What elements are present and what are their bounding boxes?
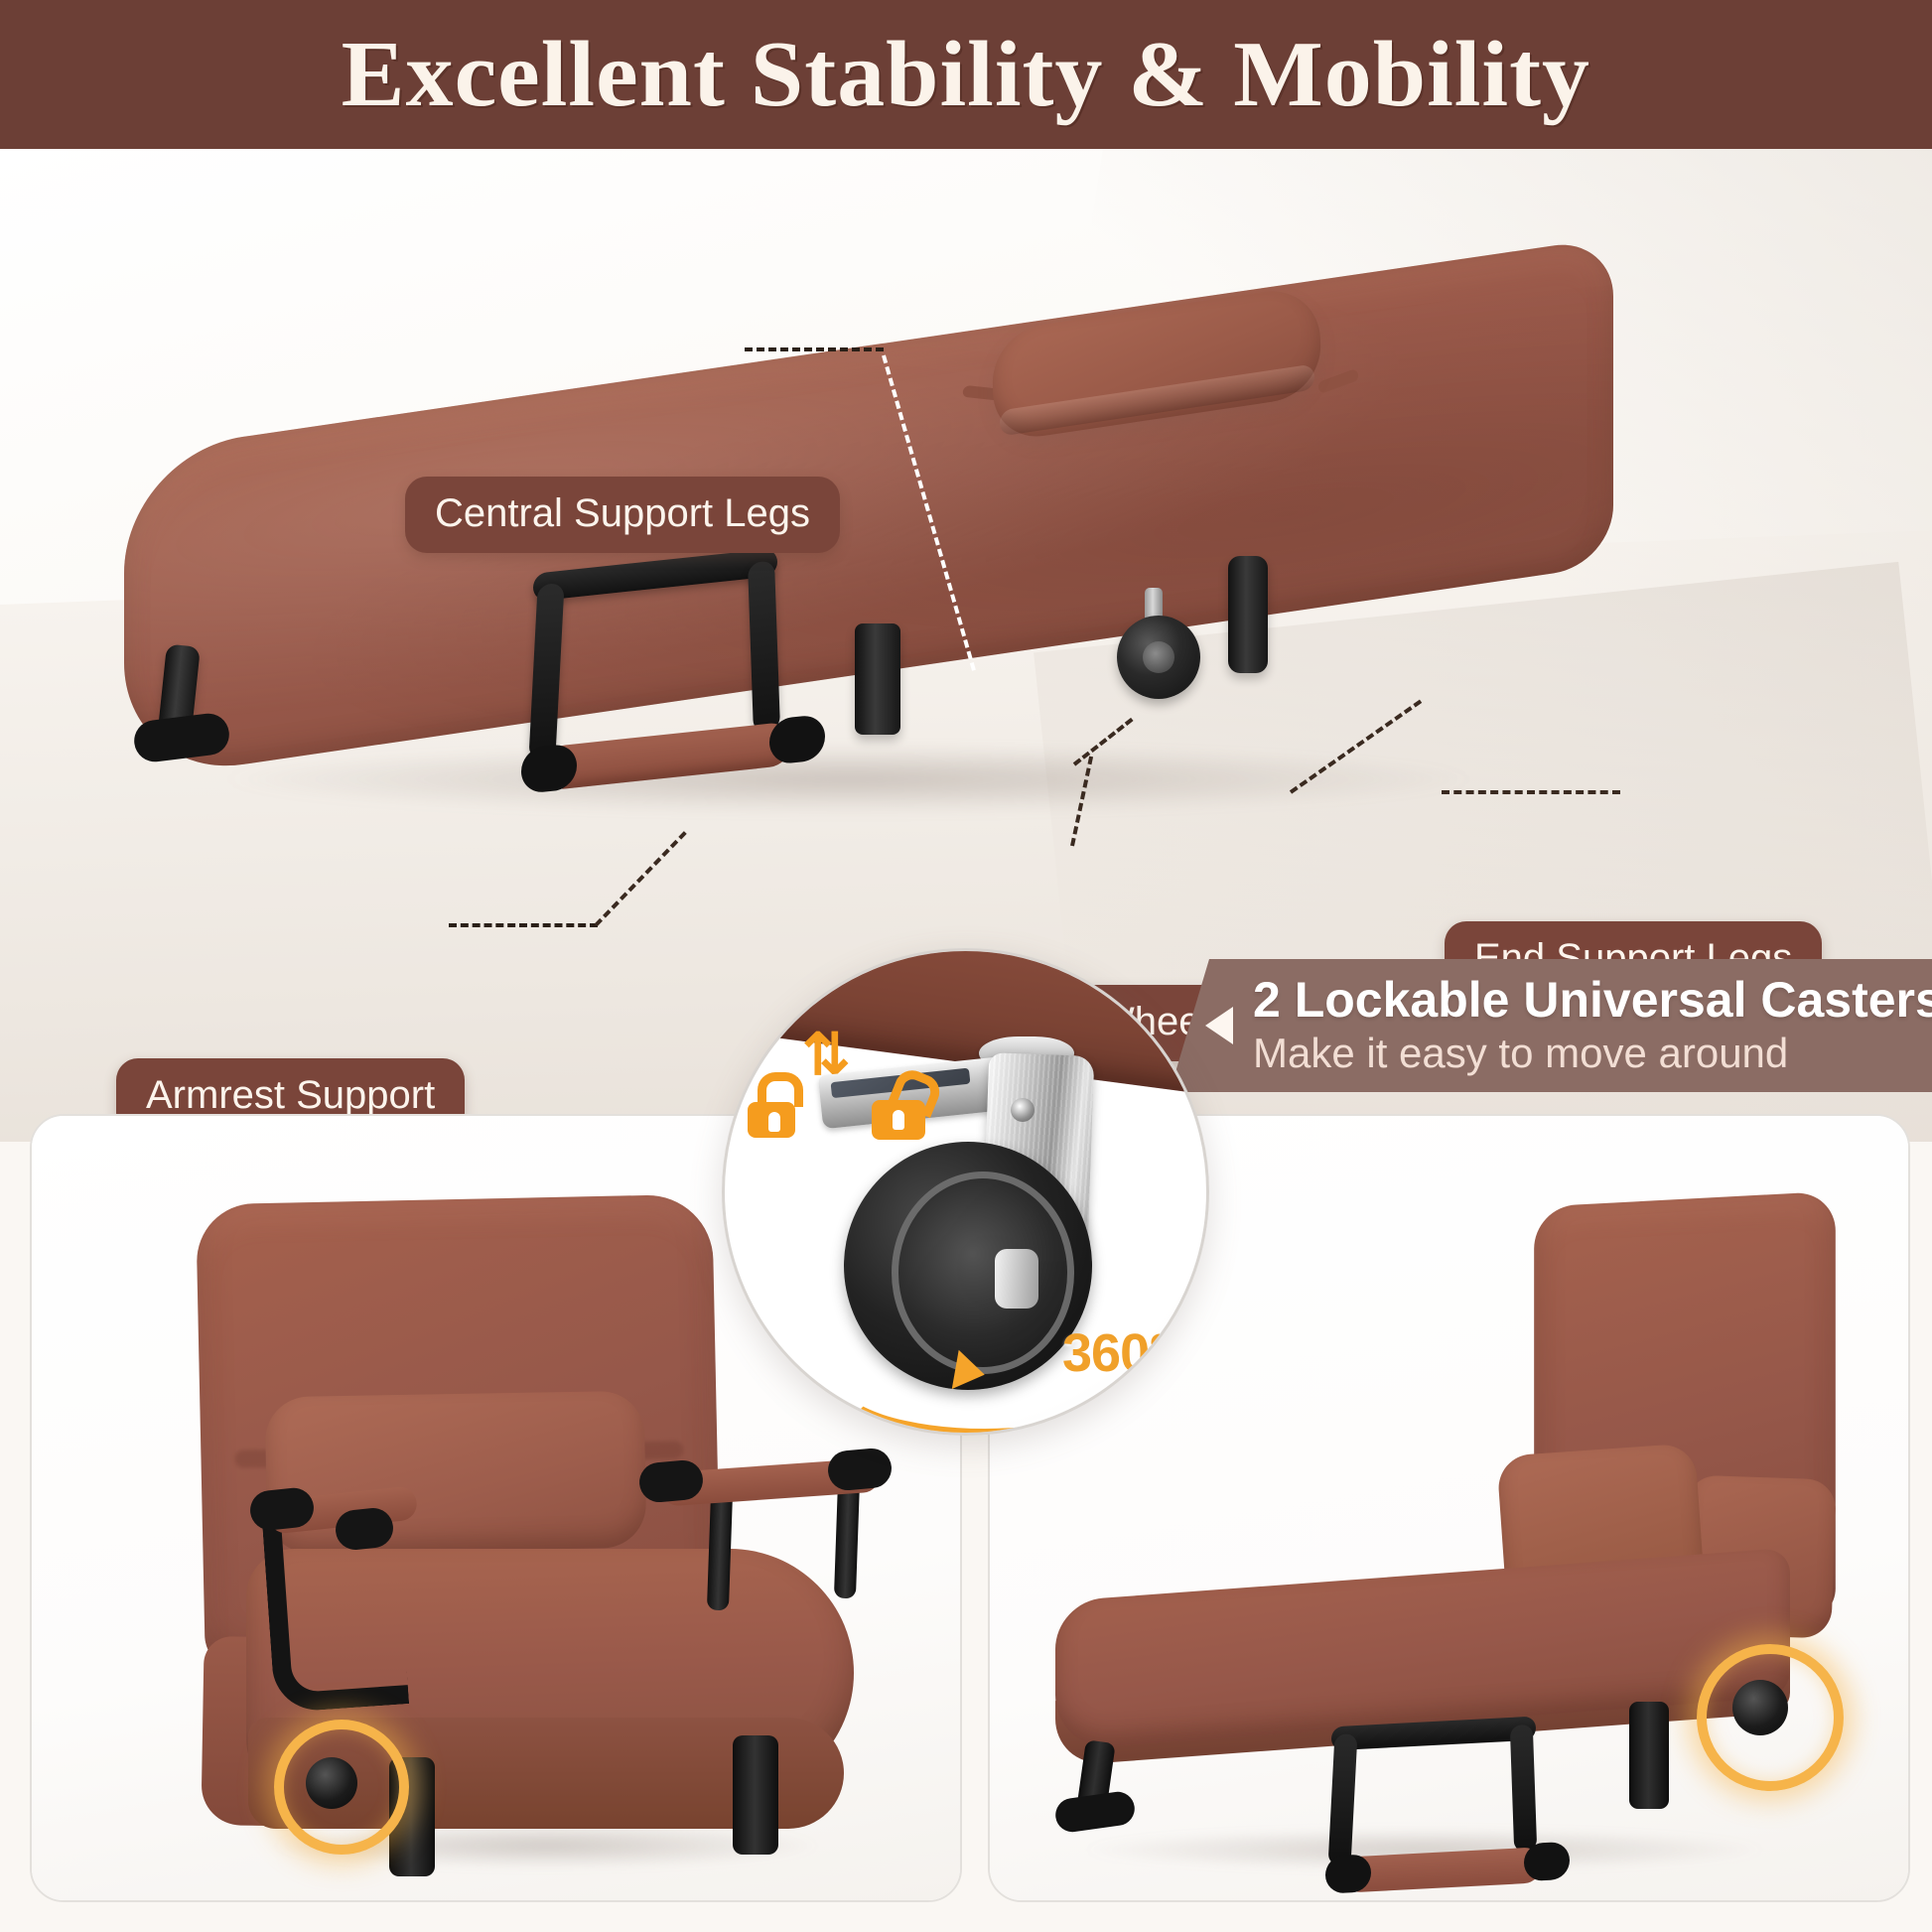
callout-central-support-legs[interactable]: Central Support Legs bbox=[405, 477, 840, 553]
rotation-degree-label: 360° bbox=[1062, 1322, 1170, 1384]
chaise-frame-right-bar bbox=[1510, 1724, 1537, 1853]
armrest-frame-right-bar bbox=[748, 560, 780, 734]
lock-open-icon bbox=[872, 1092, 925, 1140]
hero-sofa-bed bbox=[94, 228, 1812, 864]
header-banner: Excellent Stability & Mobility bbox=[0, 0, 1932, 149]
leader-line-central-1 bbox=[745, 347, 884, 351]
caster-highlight-ring-right bbox=[1697, 1644, 1844, 1791]
caster-callout-banner: 2 Lockable Universal Casters Make it eas… bbox=[1170, 959, 1932, 1092]
chaise-frame-left-bar bbox=[1328, 1734, 1358, 1865]
infographic-stage: Excellent Stability & Mobility bbox=[0, 0, 1932, 1932]
product-shadow bbox=[213, 745, 1484, 814]
triangle-left-icon bbox=[1205, 1007, 1233, 1044]
armrest-support-frame bbox=[509, 546, 799, 775]
end-support-leg-right bbox=[1228, 556, 1268, 673]
caster-detail-circle: ⇅ 360° bbox=[722, 948, 1209, 1436]
caster-banner-title: 2 Lockable Universal Casters bbox=[1253, 974, 1932, 1027]
armchair-leg-right bbox=[733, 1735, 778, 1855]
central-support-leg bbox=[855, 623, 900, 735]
leader-line-armrest-1 bbox=[449, 923, 598, 927]
lock-closed-icon bbox=[748, 1090, 801, 1138]
caster-highlight-ring-left bbox=[274, 1720, 409, 1855]
page-title: Excellent Stability & Mobility bbox=[342, 21, 1590, 128]
caster-bolt bbox=[1011, 1098, 1035, 1122]
armchair-arm-post-right-front bbox=[707, 1491, 733, 1611]
leader-line-endlegs-1 bbox=[1442, 790, 1620, 794]
chaise-end-foot bbox=[1053, 1790, 1137, 1835]
hero-caster-wheel bbox=[1117, 616, 1200, 699]
caster-axle-hub bbox=[995, 1249, 1038, 1309]
chaise-armrest-support-frame bbox=[1313, 1716, 1552, 1879]
armchair-arm-post-right-back bbox=[834, 1479, 860, 1599]
armrest-frame-left-bar bbox=[528, 583, 564, 759]
caster-banner-subtitle: Make it easy to move around bbox=[1253, 1030, 1932, 1077]
chaise-central-leg bbox=[1629, 1702, 1669, 1809]
